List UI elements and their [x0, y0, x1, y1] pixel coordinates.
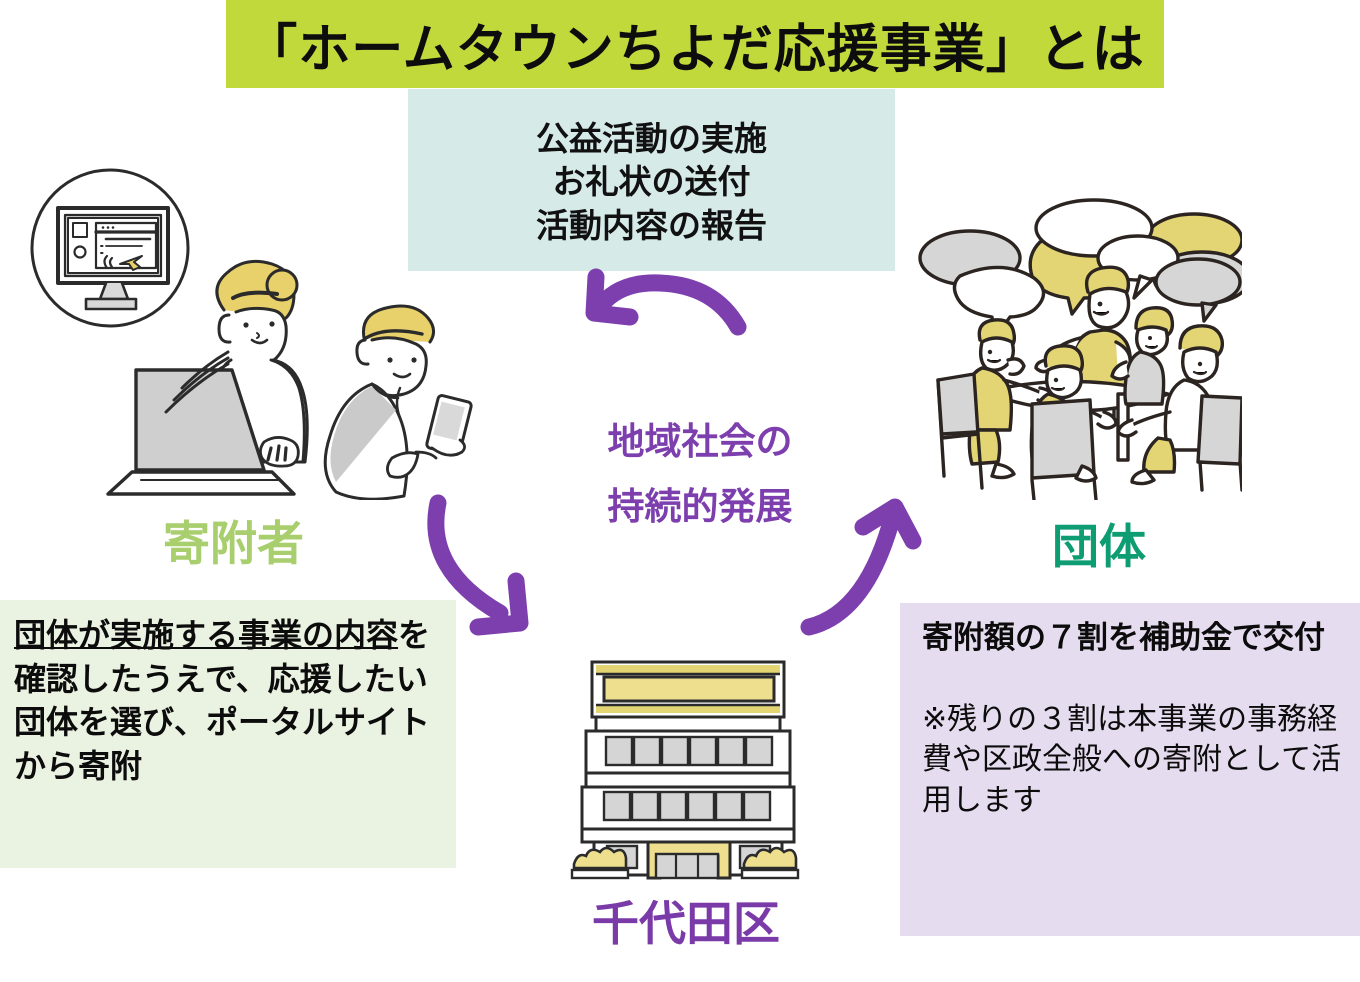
subsidy-note: ※残りの３割は本事業の事務経費や区政全般への寄附として活用します: [922, 700, 1350, 822]
center-caption: 地域社会の 持続的発展: [575, 410, 825, 540]
report-line-1: 公益活動の実施: [536, 117, 767, 161]
label-organization: 団体: [1052, 508, 1146, 577]
diagram-canvas: 「ホームタウンちよだ応援事業」とは 公益活動の実施 お礼状の送付 活動内容の報告…: [0, 0, 1360, 982]
report-line-3: 活動内容の報告: [536, 204, 767, 248]
donor-instruction-text: 団体が実施する事業の内容を確認したうえで、応援したい団体を選び、ポータルサイトか…: [14, 614, 444, 788]
center-caption-line-2: 持続的発展: [575, 475, 825, 540]
subsidy-headline: 寄附額の７割を補助金で交付: [922, 617, 1350, 660]
page-title-banner: 「ホームタウンちよだ応援事業」とは: [226, 0, 1164, 88]
subsidy-box: 寄附額の７割を補助金で交付 ※残りの３割は本事業の事務経費や区政全般への寄附とし…: [900, 603, 1360, 936]
page-title: 「ホームタウンちよだ応援事業」とは: [245, 7, 1144, 82]
donor-instruction-underlined: 団体が実施する事業の内: [14, 617, 366, 653]
donor-illustration: [28, 160, 488, 500]
arrow-organization-to-donor: [560, 265, 760, 365]
donor-instruction-underlined-2: 容: [366, 617, 398, 653]
label-donor: 寄附者: [163, 505, 304, 574]
label-ward: 千代田区: [592, 885, 780, 954]
ward-office-illustration: [552, 640, 822, 885]
organization-illustration: [912, 180, 1242, 500]
donor-instruction-box: 団体が実施する事業の内容を確認したうえで、応援したい団体を選び、ポータルサイトか…: [0, 600, 456, 868]
report-line-2: お礼状の送付: [553, 160, 751, 204]
arrow-donor-to-ward: [398, 485, 588, 650]
center-caption-line-1: 地域社会の: [575, 410, 825, 475]
